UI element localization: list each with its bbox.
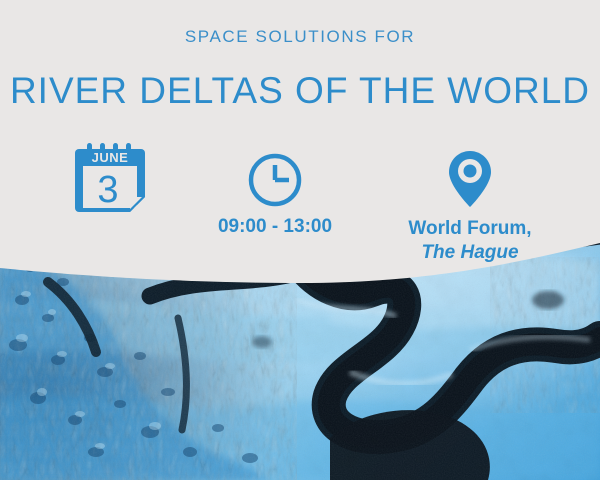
map-pin-icon <box>370 145 570 215</box>
banner-subtitle: SPACE SOLUTIONS FOR <box>0 27 600 47</box>
event-date-block: JUNE 3 <box>20 145 200 215</box>
calendar-day-number: 3 <box>97 169 118 211</box>
event-location-line1: World Forum, <box>370 217 570 241</box>
event-time-label: 09:00 - 13:00 <box>180 215 370 239</box>
event-banner: SPACE SOLUTIONS FOR RIVER DELTAS OF THE … <box>0 0 600 480</box>
event-details-row: JUNE 3 09:00 - 13:00 <box>0 145 600 265</box>
calendar-icon: JUNE 3 <box>20 145 200 215</box>
event-time-block: 09:00 - 13:00 <box>180 145 370 239</box>
event-location-block: World Forum, The Hague <box>370 145 570 265</box>
page-title: RIVER DELTAS OF THE WORLD <box>0 70 600 112</box>
clock-icon <box>180 145 370 215</box>
calendar-month-label: JUNE <box>92 150 129 165</box>
event-location-line2: The Hague <box>370 241 570 265</box>
